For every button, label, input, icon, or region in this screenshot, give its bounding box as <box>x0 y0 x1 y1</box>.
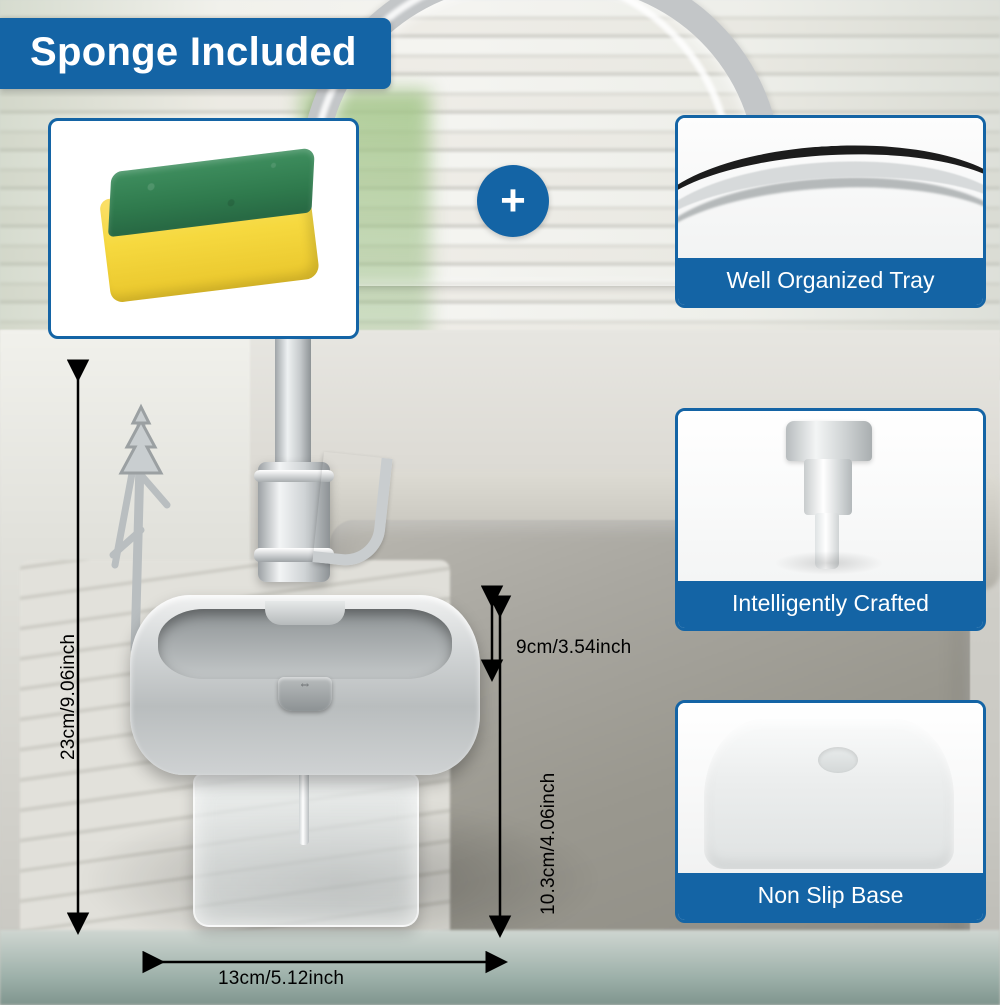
pump-nozzle-closeup-image <box>678 411 983 581</box>
soap-dispenser-product: ⇔ <box>115 355 515 945</box>
dimension-body-height-label: 10.3cm/4.06inch <box>538 773 560 915</box>
callout-non-slip-base: Non Slip Base <box>675 700 986 923</box>
sponge-included-card <box>48 118 359 339</box>
plus-badge: + <box>477 165 549 237</box>
title-badge: Sponge Included <box>0 18 391 89</box>
product-infographic: ⇔ 23cm/9.06inch 9cm/3.54inch 10.3cm/4.06… <box>0 0 1000 1005</box>
pump-arrows-icon: ⇔ <box>291 677 319 691</box>
dimension-width-label: 13cm/5.12inch <box>218 968 344 990</box>
dimension-depth-label: 9cm/3.54inch <box>516 637 631 659</box>
tray-front-notch <box>265 601 345 625</box>
callout-intelligently-crafted: Intelligently Crafted <box>675 408 986 631</box>
base-closeup-image <box>678 703 983 873</box>
callout-caption: Intelligently Crafted <box>678 581 983 628</box>
sponge-image <box>96 149 320 304</box>
tray-edge-closeup-image <box>678 118 983 258</box>
callout-caption: Non Slip Base <box>678 873 983 920</box>
callout-well-organized-tray: Well Organized Tray <box>675 115 986 308</box>
callout-caption: Well Organized Tray <box>678 258 983 305</box>
dimension-height-label: 23cm/9.06inch <box>58 634 80 760</box>
